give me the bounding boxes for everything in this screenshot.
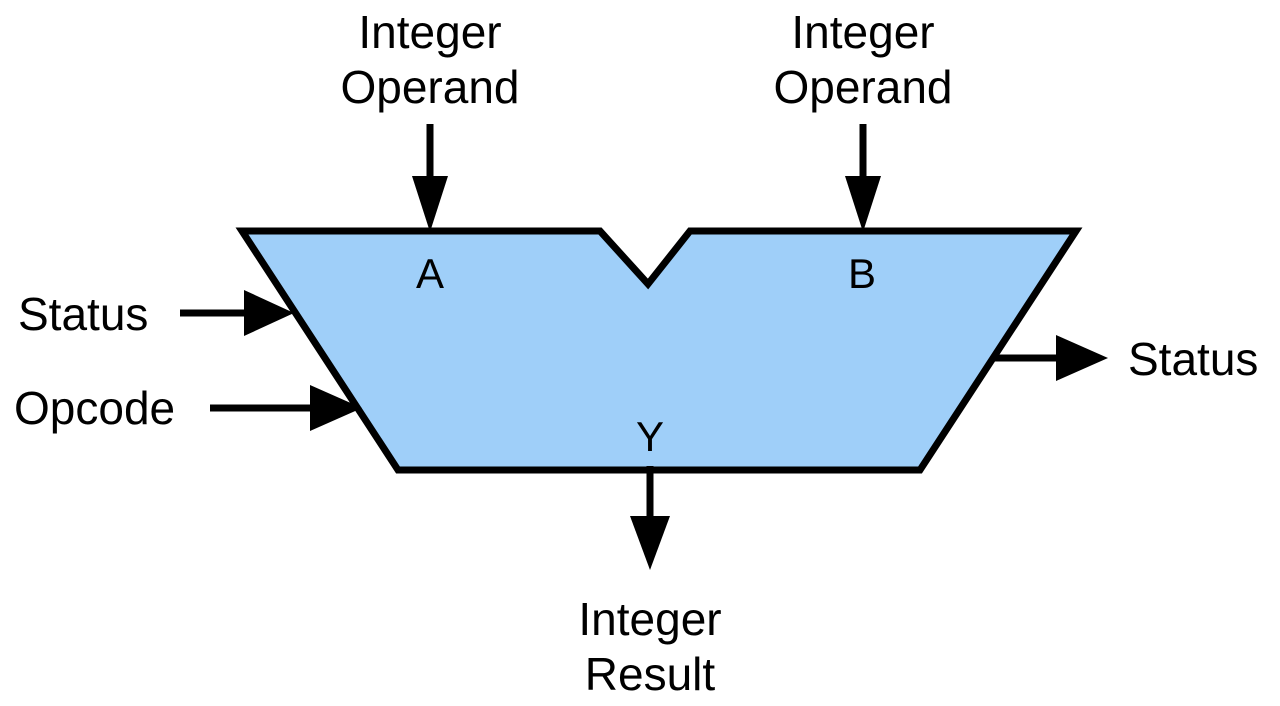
operand-b-caption-line1: Integer <box>791 6 934 58</box>
port-label-b: B <box>848 250 876 297</box>
arrow-down-icon-result <box>630 466 670 570</box>
operand-a-caption-line2: Operand <box>340 61 519 113</box>
arrow-right-icon-status-in <box>180 290 294 336</box>
operand-a-caption-line1: Integer <box>358 6 501 58</box>
status-output-arrowhead <box>1056 335 1108 381</box>
status-output-label: Status <box>1128 333 1258 385</box>
arrow-down-icon-operand-b <box>845 124 881 232</box>
result-caption-line1: Integer <box>578 593 721 645</box>
operand-a-arrowhead <box>412 176 448 232</box>
arrow-right-icon-status-out <box>994 335 1108 381</box>
operand-b-caption-line2: Operand <box>773 61 952 113</box>
arrow-down-icon-operand-a <box>412 124 448 232</box>
alu-diagram-canvas: Integer Operand A Integer Operand B Stat… <box>0 0 1280 706</box>
operand-b-arrowhead <box>845 176 881 232</box>
opcode-input-label: Opcode <box>14 382 175 434</box>
port-label-y: Y <box>636 413 664 460</box>
result-caption-line2: Result <box>585 648 716 700</box>
alu-diagram: Integer Operand A Integer Operand B Stat… <box>0 0 1280 706</box>
port-label-a: A <box>416 250 444 297</box>
status-input-label: Status <box>18 288 148 340</box>
arrow-right-icon-opcode-in <box>210 385 362 431</box>
result-arrowhead <box>630 516 670 570</box>
